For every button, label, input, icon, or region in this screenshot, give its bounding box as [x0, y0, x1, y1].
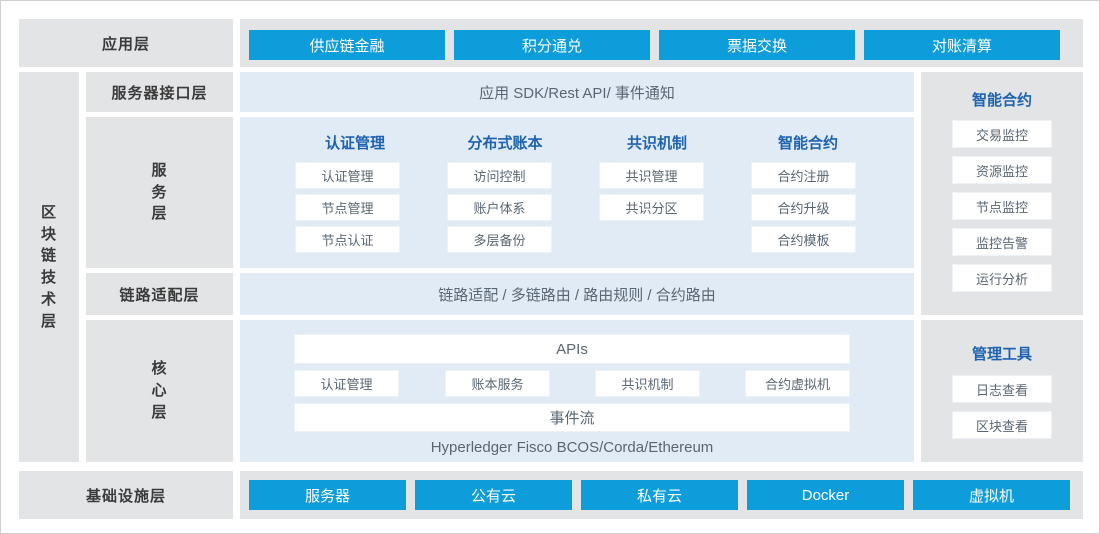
app-button-bill-exchange[interactable]: 票据交换 [659, 30, 855, 60]
blockchain-tech-layer-char-0: 区 [41, 202, 57, 224]
server-interface-layer-band: 应用 SDK/Rest API/ 事件通知 [240, 72, 914, 112]
service-group-title-auth: 认证管理 [295, 131, 415, 153]
service-group-title-smart-contract: 智能合约 [748, 131, 868, 153]
right-panel-item-operation-analysis[interactable]: 运行分析 [952, 264, 1052, 292]
core-layer-label: 核 心 层 [86, 320, 233, 462]
core-module-consensus[interactable]: 共识机制 [595, 370, 700, 397]
blockchain-tech-layer-char-5: 层 [41, 311, 57, 333]
infra-button-private-cloud[interactable]: 私有云 [581, 480, 738, 510]
infra-button-virtual-machine[interactable]: 虚拟机 [913, 480, 1070, 510]
right-panel-item-node-monitoring[interactable]: 节点监控 [952, 192, 1052, 220]
service-card-ledger-1[interactable]: 账户体系 [447, 194, 552, 221]
blockchain-tech-layer-label: 区 块 链 技 术 层 [19, 72, 79, 462]
core-layer-char-1: 心 [151, 380, 167, 402]
app-button-supply-chain-finance[interactable]: 供应链金融 [249, 30, 445, 60]
infra-button-public-cloud[interactable]: 公有云 [415, 480, 572, 510]
core-module-contract-vm[interactable]: 合约虚拟机 [745, 370, 850, 397]
right-panel-item-resource-monitoring[interactable]: 资源监控 [952, 156, 1052, 184]
core-event-stream-bar[interactable]: 事件流 [294, 403, 850, 432]
service-group-title-consensus: 共识机制 [597, 131, 717, 153]
service-card-smart-contract-0[interactable]: 合约注册 [751, 162, 856, 189]
blockchain-tech-layer-char-3: 技 [41, 267, 57, 289]
core-layer-char-0: 核 [151, 358, 167, 380]
application-layer-label: 应用层 [19, 19, 233, 67]
core-layer-platforms-text: Hyperledger Fisco BCOS/Corda/Ethereum [294, 435, 850, 459]
right-panel-item-log-viewer[interactable]: 日志查看 [952, 375, 1052, 403]
service-card-smart-contract-1[interactable]: 合约升级 [751, 194, 856, 221]
right-panel-item-monitoring-alert[interactable]: 监控告警 [952, 228, 1052, 256]
service-card-consensus-0[interactable]: 共识管理 [599, 162, 704, 189]
core-module-ledger-service[interactable]: 账本服务 [445, 370, 550, 397]
infra-button-server[interactable]: 服务器 [249, 480, 406, 510]
service-layer-char-2: 层 [151, 203, 167, 225]
service-card-auth-1[interactable]: 节点管理 [295, 194, 400, 221]
core-apis-bar[interactable]: APIs [294, 334, 850, 364]
blockchain-tech-layer-char-4: 术 [41, 289, 57, 311]
right-panel-item-block-explorer[interactable]: 区块查看 [952, 411, 1052, 439]
service-layer-content: 认证管理 认证管理 节点管理 节点认证 分布式账本 访问控制 账户体系 多层备份… [240, 117, 914, 268]
service-card-smart-contract-2[interactable]: 合约模板 [751, 226, 856, 253]
right-panel-management-tools: 管理工具 日志查看 区块查看 [921, 320, 1083, 462]
server-interface-layer-label: 服务器接口层 [86, 72, 233, 112]
service-card-ledger-0[interactable]: 访问控制 [447, 162, 552, 189]
link-adapter-layer-band: 链路适配 / 多链路由 / 路由规则 / 合约路由 [240, 273, 914, 315]
blockchain-tech-layer-char-1: 块 [41, 224, 57, 246]
service-group-title-ledger: 分布式账本 [445, 131, 565, 153]
blockchain-tech-layer-char-2: 链 [41, 245, 57, 267]
application-layer-button-strip: 供应链金融 积分通兑 票据交换 对账清算 [240, 19, 1083, 67]
link-adapter-layer-label: 链路适配层 [86, 273, 233, 315]
service-card-auth-2[interactable]: 节点认证 [295, 226, 400, 253]
core-module-auth[interactable]: 认证管理 [294, 370, 399, 397]
right-panel-title-management-tools: 管理工具 [921, 341, 1083, 365]
right-panel-item-transaction-monitoring[interactable]: 交易监控 [952, 120, 1052, 148]
core-layer-char-2: 层 [151, 402, 167, 424]
core-layer-content: APIs 认证管理 账本服务 共识机制 合约虚拟机 事件流 Hyperledge… [240, 320, 914, 462]
infra-button-docker[interactable]: Docker [747, 480, 904, 510]
app-button-points-exchange[interactable]: 积分通兑 [454, 30, 650, 60]
app-button-reconciliation-settlement[interactable]: 对账清算 [864, 30, 1060, 60]
right-panel-smart-contract: 智能合约 交易监控 资源监控 节点监控 监控告警 运行分析 [921, 72, 1083, 315]
right-panel-title-smart-contract: 智能合约 [921, 87, 1083, 111]
architecture-diagram: 应用层 供应链金融 积分通兑 票据交换 对账清算 区 块 链 技 术 层 服务器… [0, 0, 1100, 534]
service-layer-label: 服 务 层 [86, 117, 233, 268]
service-layer-char-0: 服 [151, 160, 167, 182]
service-card-ledger-2[interactable]: 多层备份 [447, 226, 552, 253]
service-card-auth-0[interactable]: 认证管理 [295, 162, 400, 189]
service-card-consensus-1[interactable]: 共识分区 [599, 194, 704, 221]
infrastructure-layer-button-strip: 服务器 公有云 私有云 Docker 虚拟机 [240, 471, 1083, 519]
service-layer-char-1: 务 [151, 182, 167, 204]
infrastructure-layer-label: 基础设施层 [19, 471, 233, 519]
